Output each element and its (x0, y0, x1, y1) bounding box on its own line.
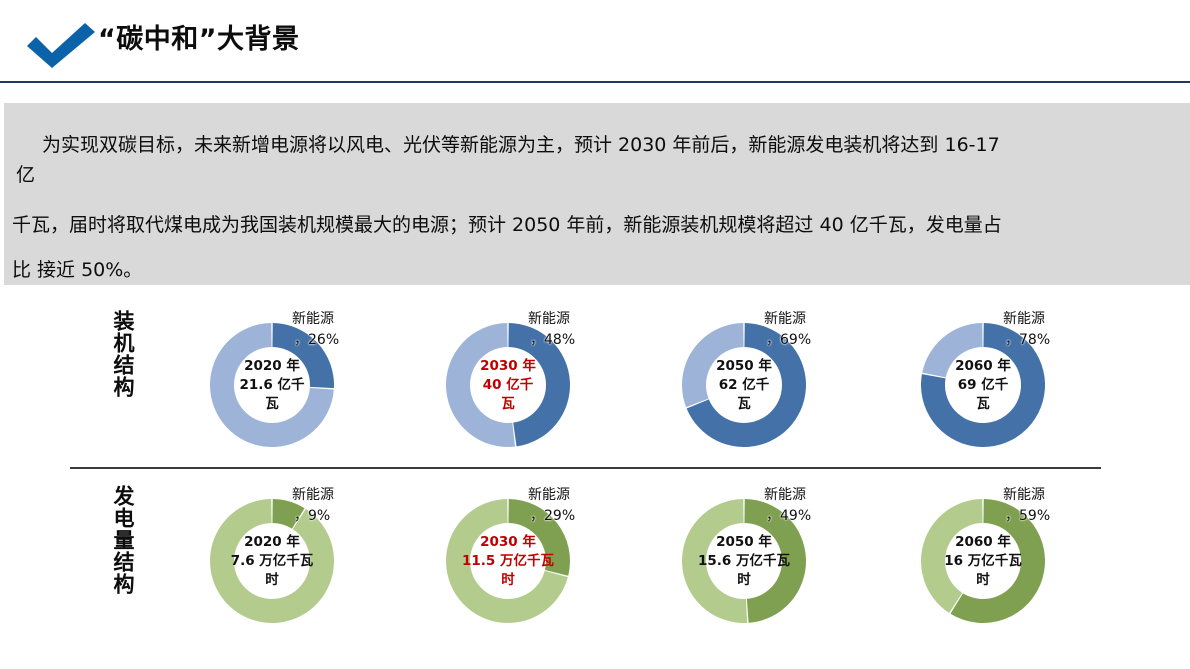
donut-slice (682, 499, 747, 623)
page-title: “碳中和”大背景 (98, 22, 398, 58)
donut-chart: 2030 年11.5 万亿千瓦时新能源，29% (418, 476, 648, 651)
callout-series-name: 新能源 (764, 311, 806, 327)
donut-callout-label: 新能源，9% (292, 485, 334, 527)
callout-percent: ，48% (528, 330, 575, 351)
callout-series-name: 新能源 (764, 487, 806, 503)
donut-chart: 2020 年7.6 万亿千瓦时新能源，9% (182, 476, 412, 651)
callout-percent: ，78% (1003, 330, 1050, 351)
slide-header: “碳中和”大背景 (0, 0, 1190, 92)
donut-chart: 2050 年15.6 万亿千瓦时新能源，49% (654, 476, 884, 651)
donut-slice (921, 499, 983, 613)
donut-callout-label: 新能源，69% (764, 309, 811, 351)
callout-series-name: 新能源 (292, 311, 334, 327)
paragraph-line-3: 千瓦，届时将取代煤电成为我国装机规模最大的电源；预计 2050 年前，新能源装机… (12, 210, 1002, 237)
paragraph-line-4: 比 接近 50%。 (12, 255, 142, 282)
callout-percent: ，49% (764, 506, 811, 527)
check-icon (24, 20, 98, 70)
donut-chart: 2060 年16 万亿千瓦时新能源，59% (893, 476, 1123, 651)
callout-series-name: 新能源 (1003, 311, 1045, 327)
donut-callout-label: 新能源，48% (528, 309, 575, 351)
donut-chart: 2050 年62 亿千瓦新能源，69% (654, 300, 884, 475)
title-divider (0, 81, 1190, 83)
donut-chart: 2020 年21.6 亿千瓦新能源，26% (182, 300, 412, 475)
donut-callout-label: 新能源，49% (764, 485, 811, 527)
donut-callout-label: 新能源，59% (1003, 485, 1050, 527)
donut-chart: 2060 年69 亿千瓦新能源，78% (893, 300, 1123, 475)
donut-callout-label: 新能源，29% (528, 485, 575, 527)
callout-percent: ，29% (528, 506, 575, 527)
callout-series-name: 新能源 (528, 311, 570, 327)
slide-canvas: “碳中和”大背景 为实现双碳目标，未来新增电源将以风电、光伏等新能源为主，预计 … (0, 0, 1190, 669)
donut-callout-label: 新能源，26% (292, 309, 339, 351)
donut-chart: 2030 年40 亿千瓦新能源，48% (418, 300, 648, 475)
row-label-generation: 发电量结构 (108, 485, 138, 595)
callout-percent: ，26% (292, 330, 339, 351)
callout-percent: ，69% (764, 330, 811, 351)
row-label-installed-capacity: 装机结构 (108, 310, 138, 398)
intro-paragraph-block: 为实现双碳目标，未来新增电源将以风电、光伏等新能源为主，预计 2030 年前后，… (4, 103, 1190, 285)
callout-series-name: 新能源 (292, 487, 334, 503)
paragraph-line-1: 为实现双碳目标，未来新增电源将以风电、光伏等新能源为主，预计 2030 年前后，… (42, 130, 1000, 157)
donut-slice (446, 323, 515, 447)
donut-slice (922, 323, 982, 377)
paragraph-line-2: 亿 (16, 160, 35, 187)
donut-slice (682, 323, 744, 407)
callout-series-name: 新能源 (1003, 487, 1045, 503)
callout-percent: ，9% (292, 506, 334, 527)
callout-percent: ，59% (1003, 506, 1050, 527)
donut-callout-label: 新能源，78% (1003, 309, 1050, 351)
callout-series-name: 新能源 (528, 487, 570, 503)
charts-area: 装机结构 发电量结构 2020 年21.6 亿千瓦新能源，26%2030 年40… (0, 290, 1190, 669)
